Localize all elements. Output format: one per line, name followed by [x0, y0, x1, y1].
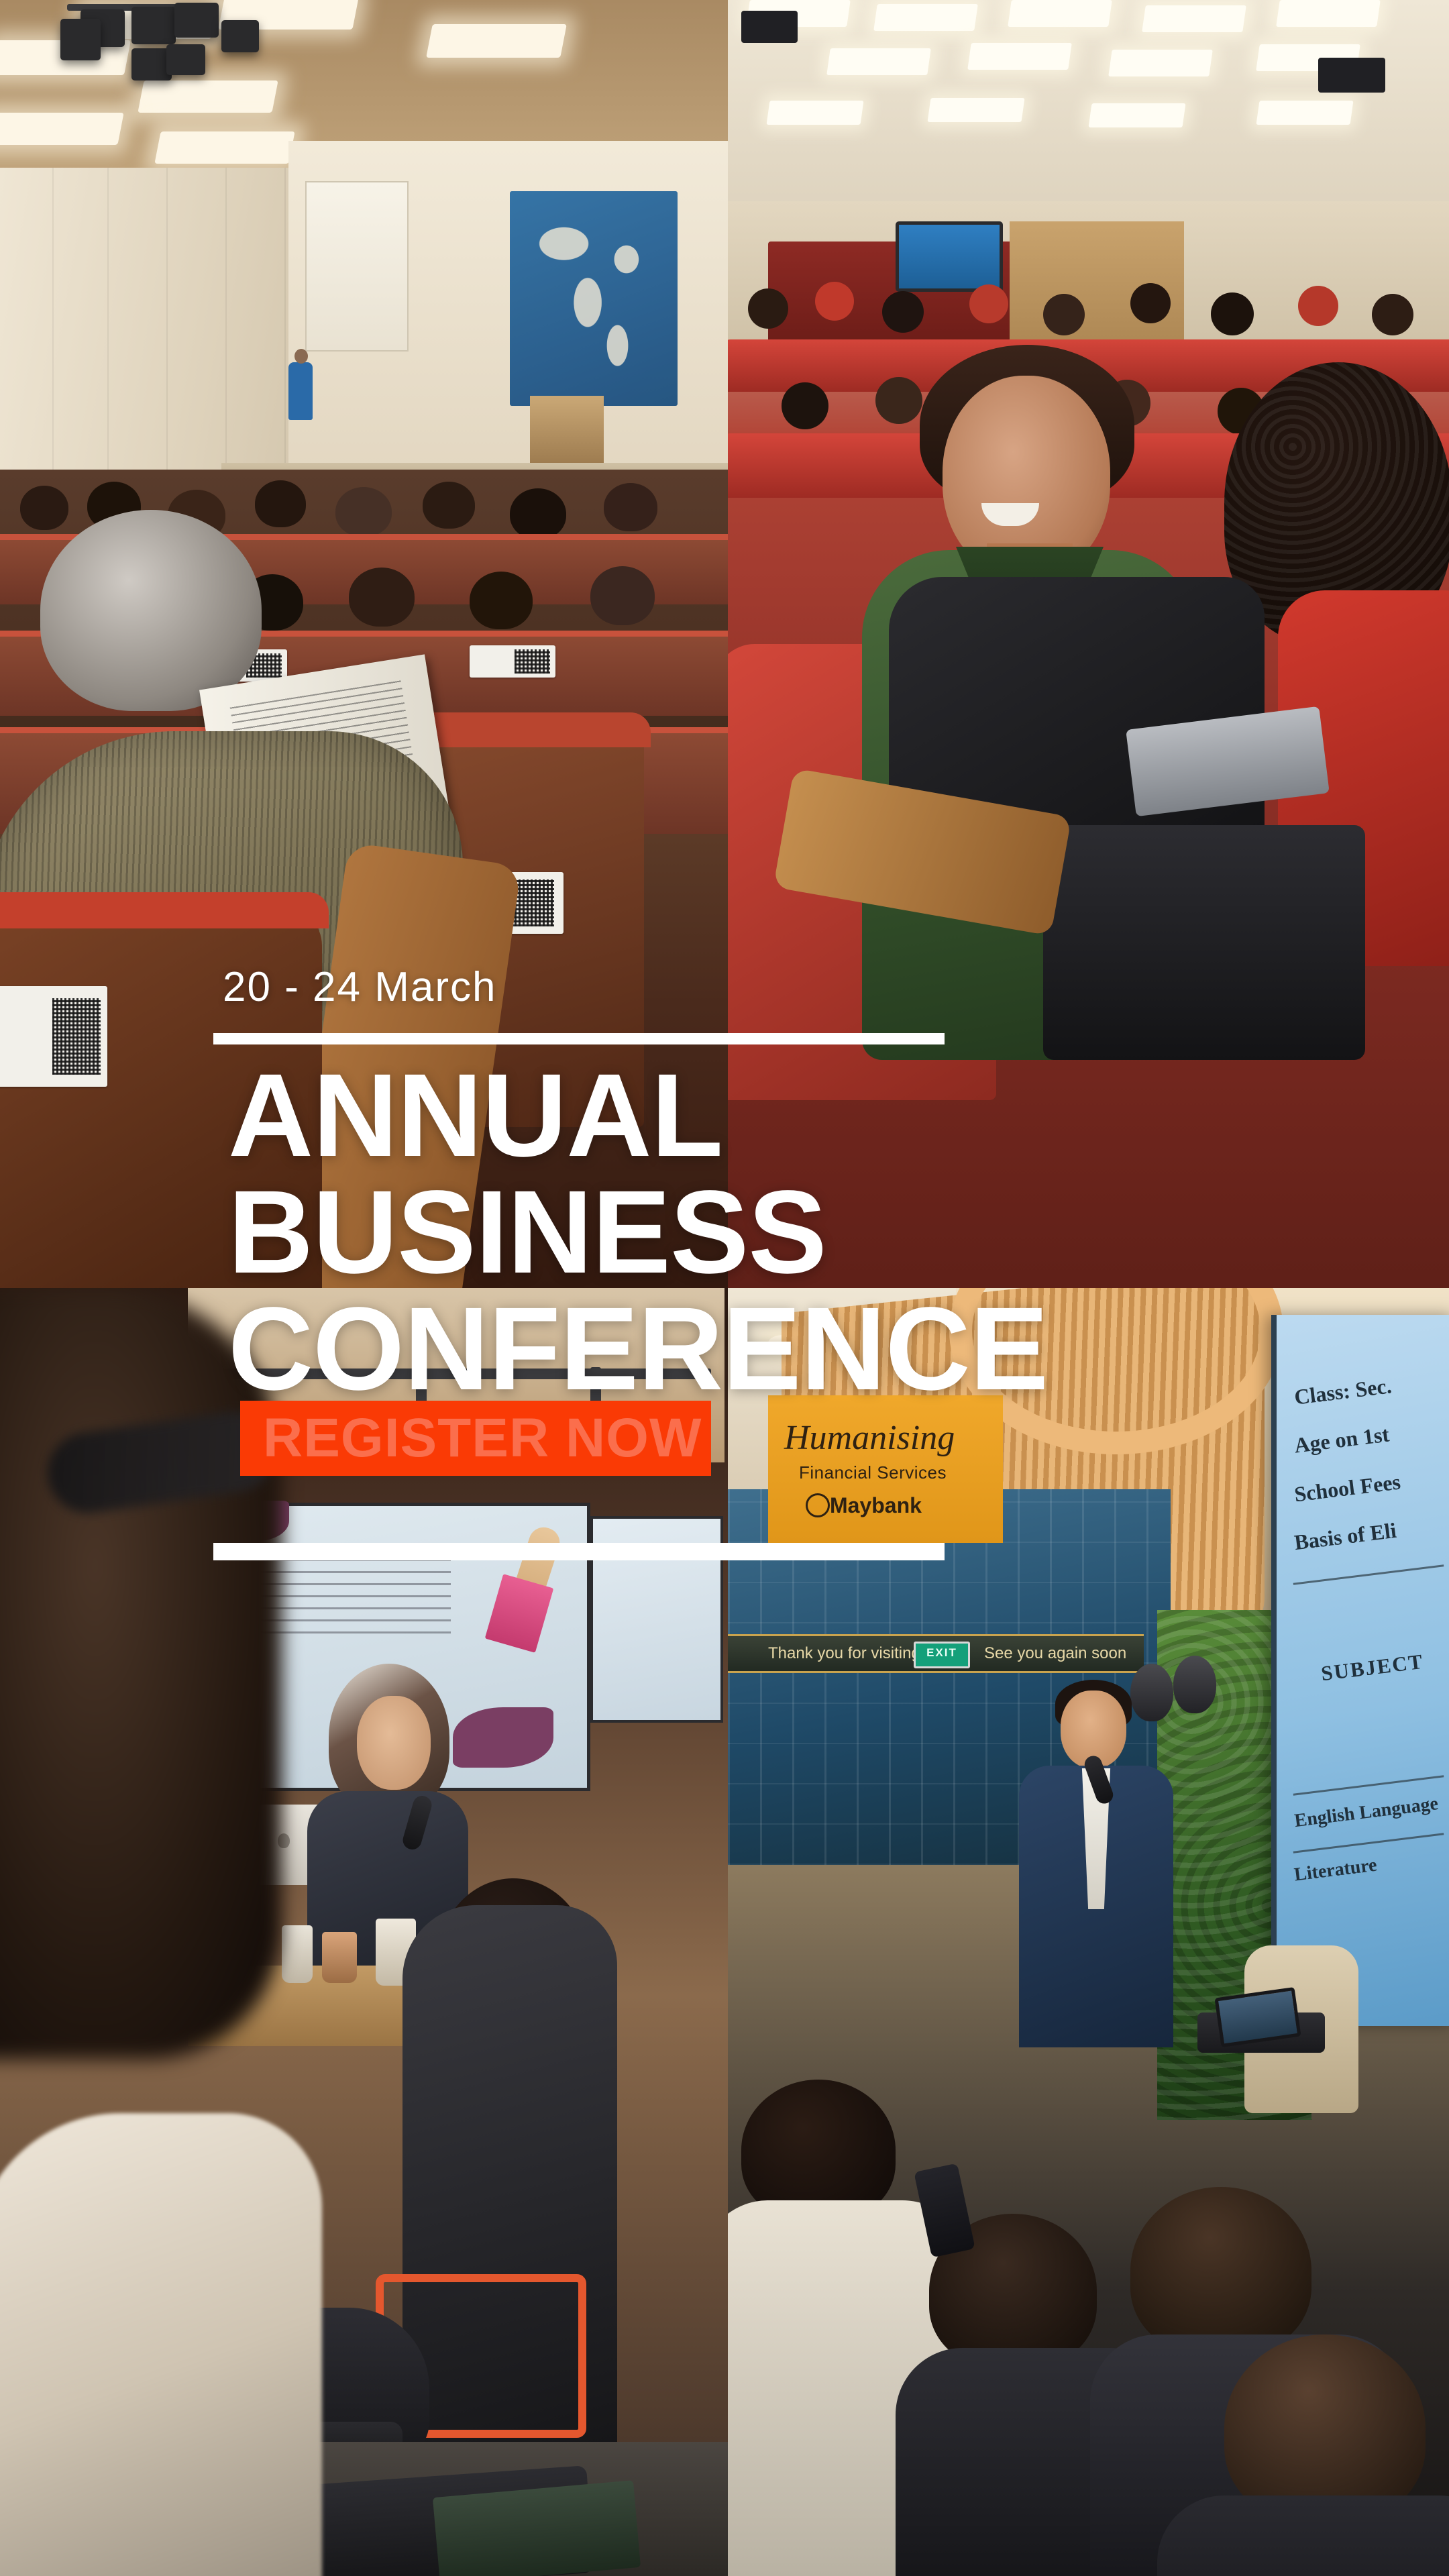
- register-now-button[interactable]: REGISTER NOW: [240, 1401, 711, 1476]
- conference-poster: Humanising Financial Services Maybank Th…: [0, 0, 1449, 2576]
- event-date: 20 - 24 March: [223, 963, 497, 1011]
- divider-rule-top: [213, 1033, 945, 1044]
- title-line-2: BUSINESS: [228, 1174, 1167, 1291]
- register-now-label: REGISTER NOW: [240, 1407, 702, 1470]
- title-line-3: CONFERENCE: [228, 1291, 1167, 1407]
- text-overlay: 20 - 24 March ANNUAL BUSINESS CONFERENCE…: [0, 0, 1449, 2576]
- page-title: ANNUAL BUSINESS CONFERENCE: [228, 1057, 1167, 1408]
- divider-rule-bottom: [213, 1543, 945, 1560]
- title-line-1: ANNUAL: [228, 1057, 1167, 1174]
